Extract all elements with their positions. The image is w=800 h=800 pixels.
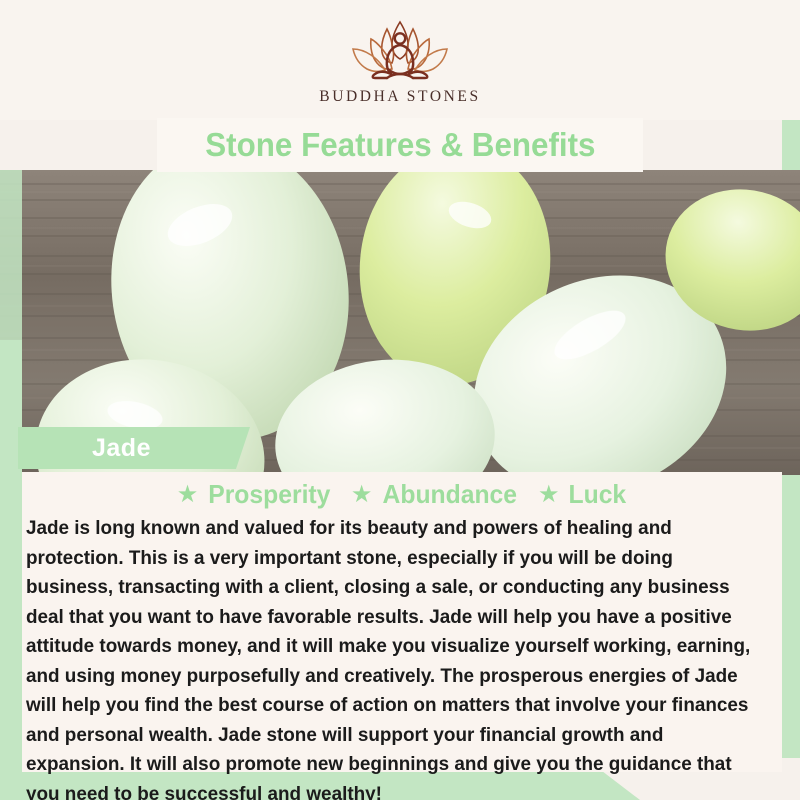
benefit-item: ★ Prosperity bbox=[177, 479, 334, 510]
star-icon: ★ bbox=[177, 483, 199, 507]
brand-header: BUDDHA STONES bbox=[0, 0, 800, 120]
content-panel: ★ Prosperity ★ Abundance ★ Luck Jade is … bbox=[22, 472, 782, 772]
star-icon: ★ bbox=[351, 483, 373, 507]
star-icon: ★ bbox=[538, 483, 560, 507]
benefit-label: Abundance bbox=[383, 479, 517, 510]
decor-left-green-edge bbox=[0, 340, 22, 800]
stone-description: Jade is long known and valued for its be… bbox=[22, 514, 771, 800]
infographic-canvas: BUDDHA STONES Stone Features & Benefits bbox=[0, 0, 800, 800]
benefit-label: Luck bbox=[568, 479, 626, 510]
benefit-label: Prosperity bbox=[209, 479, 331, 510]
stone-name-label: Jade bbox=[92, 434, 151, 463]
brand-name: BUDDHA STONES bbox=[319, 88, 480, 106]
stone-name-banner: Jade bbox=[18, 427, 250, 469]
lotus-meditation-icon bbox=[325, 18, 475, 84]
decor-left-green-upper bbox=[0, 170, 22, 340]
page-title-bar: Stone Features & Benefits bbox=[157, 118, 643, 172]
page-title: Stone Features & Benefits bbox=[205, 126, 595, 164]
benefits-row: ★ Prosperity ★ Abundance ★ Luck bbox=[22, 472, 782, 510]
benefit-item: ★ Abundance bbox=[351, 479, 521, 510]
benefit-item: ★ Luck bbox=[538, 479, 627, 510]
